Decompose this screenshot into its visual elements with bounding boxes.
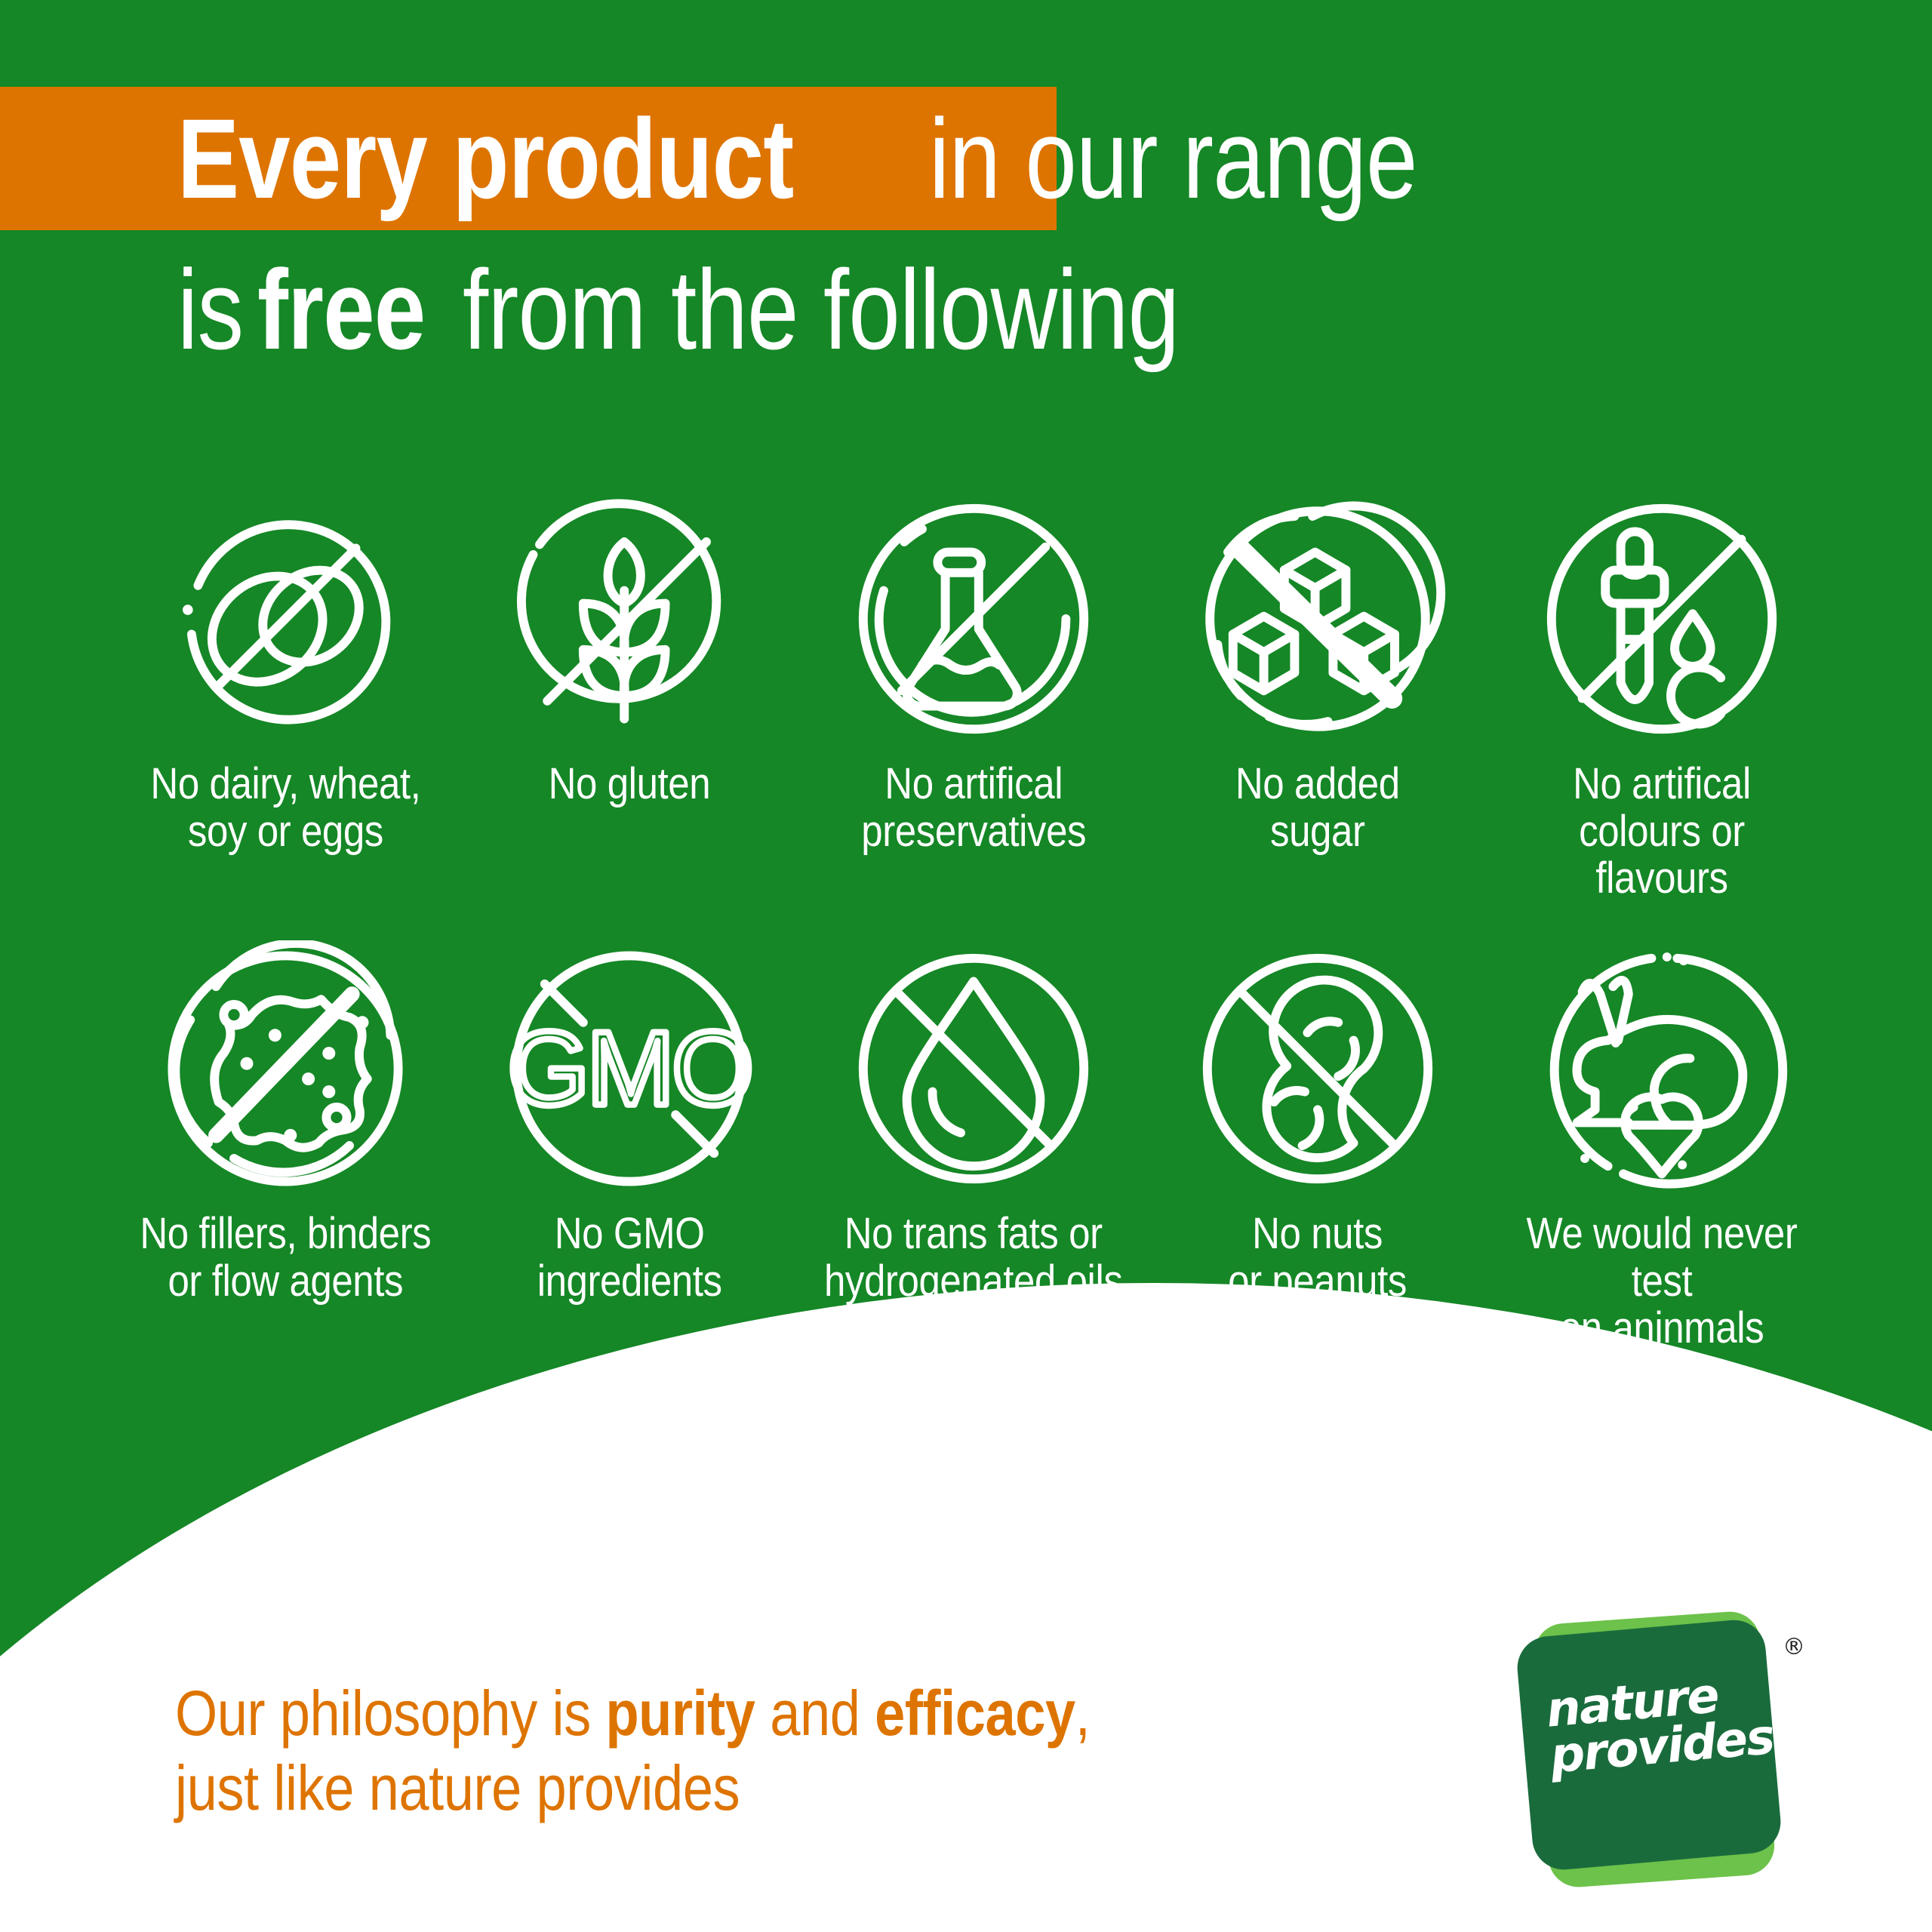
no-added-sugar-cubes-icon (1189, 491, 1446, 747)
philosophy-efficacy: efficacy (875, 1678, 1075, 1749)
infographic-poster: Every product in our range is free from … (0, 0, 1932, 1932)
philosophy-text-c: and (755, 1678, 875, 1749)
philosophy-text-a: Our philosophy is (175, 1678, 605, 1749)
nature-provides-logo[interactable]: nature provides ® (1509, 1611, 1811, 1890)
grid-item-no-fillers: No fillers, binders or flow agents (113, 910, 457, 1352)
grid-item-no-gluten: No gluten (457, 491, 801, 903)
no-gluten-wheat-stalk-icon (501, 491, 758, 747)
grid-item-label: No fillers, binders or flow agents (140, 1211, 431, 1305)
headline-block: Every product in our range is free from … (0, 87, 1932, 381)
headline-line1-rest: in our range (929, 87, 1417, 230)
grid-item-no-gmo: GMO No GMO ingredients (457, 910, 801, 1352)
grid-item-label: No added sugar (1235, 761, 1400, 855)
headline-line2-lead: is (177, 238, 243, 381)
no-gmo-ingredients-icon: GMO (501, 940, 758, 1197)
grid-item-no-preservatives: No artifical preservatives (801, 491, 1146, 903)
headline-highlight-text: Every product (177, 87, 793, 230)
philosophy-statement: Our philosophy is purity and efficacy, j… (175, 1676, 1090, 1826)
no-trans-fats-droplet-icon (845, 940, 1102, 1197)
grid-item-label: No artifical colours or flavours (1510, 761, 1813, 903)
grid-item-label: No artifical preservatives (861, 761, 1086, 855)
no-dairy-wheat-soy-eggs-icon (157, 491, 414, 747)
philosophy-line-2: just like nature provides (175, 1751, 1090, 1826)
grid-item-label: No gluten (549, 761, 711, 808)
grid-item-no-added-sugar: No added sugar (1146, 491, 1490, 903)
headline-line2-bold: free (257, 238, 425, 381)
grid-item-no-dairy: No dairy, wheat, soy or eggs (113, 491, 457, 903)
headline-line2-rest: from the following (463, 238, 1179, 381)
grid-item-label: No GMO ingredients (537, 1211, 722, 1305)
svg-text:GMO: GMO (508, 1009, 752, 1127)
cruelty-free-rabbit-heart-icon (1534, 940, 1790, 1197)
philosophy-line-1: Our philosophy is purity and efficacy, (175, 1676, 1090, 1751)
philosophy-comma: , (1075, 1678, 1091, 1749)
logo-wordmark: nature provides (1518, 1640, 1783, 1857)
no-artifical-preservatives-flask-icon (845, 491, 1102, 747)
registered-trademark-icon: ® (1783, 1634, 1805, 1660)
free-from-icon-grid: No dairy, wheat, soy or eggs No gluten (113, 491, 1834, 1352)
grid-item-label: No dairy, wheat, soy or eggs (150, 761, 420, 855)
headline-line-2: is free from the following (0, 238, 1932, 381)
no-nuts-peanut-icon (1189, 940, 1446, 1197)
philosophy-purity: purity (605, 1678, 755, 1749)
grid-item-cruelty-free: We would never test on aninmals (1490, 910, 1834, 1352)
headline-line-1: Every product in our range (0, 87, 1932, 230)
no-artifical-colours-dropper-icon (1534, 491, 1790, 747)
no-fillers-binders-powder-icon (157, 940, 414, 1197)
grid-item-no-colours-flavours: No artifical colours or flavours (1490, 491, 1834, 903)
